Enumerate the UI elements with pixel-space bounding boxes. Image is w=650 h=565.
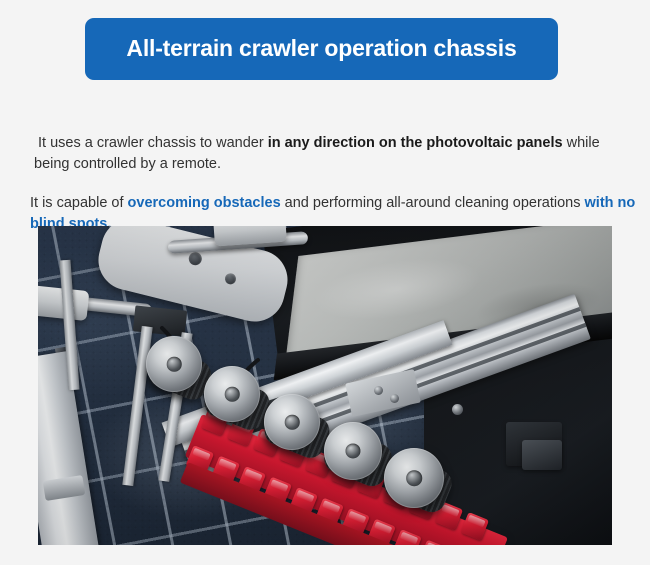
bolt-right-2 [452,404,463,415]
description-paragraph-1: It uses a crawler chassis to wander in a… [34,133,634,175]
arm-hole-2 [224,272,237,285]
photo-illustration [38,226,612,545]
p2-bold-phrase-1: overcoming obstacles [128,195,281,211]
product-photo [38,226,612,545]
crawler-wheel [146,336,202,392]
p1-bold-phrase: in any direction on the photovoltaic pan… [268,135,563,151]
page-title: All-terrain crawler operation chassis [126,36,516,61]
p1-text-lead: It uses a crawler chassis to wander [38,135,268,151]
crawler-wheel [324,422,382,480]
p2-text-mid: and performing all-around cleaning opera… [281,195,585,211]
crawler-wheel [384,448,444,508]
crawler-wheel [204,366,260,422]
header-banner: All-terrain crawler operation chassis [85,18,558,80]
crawler-wheel [264,394,320,450]
bracket-bolt-1 [374,386,383,395]
machine-fitting-b [522,440,562,470]
arm-hole-1 [187,251,203,267]
p2-text-lead: It is capable of [30,195,128,211]
bracket-bolt-2 [390,394,399,403]
